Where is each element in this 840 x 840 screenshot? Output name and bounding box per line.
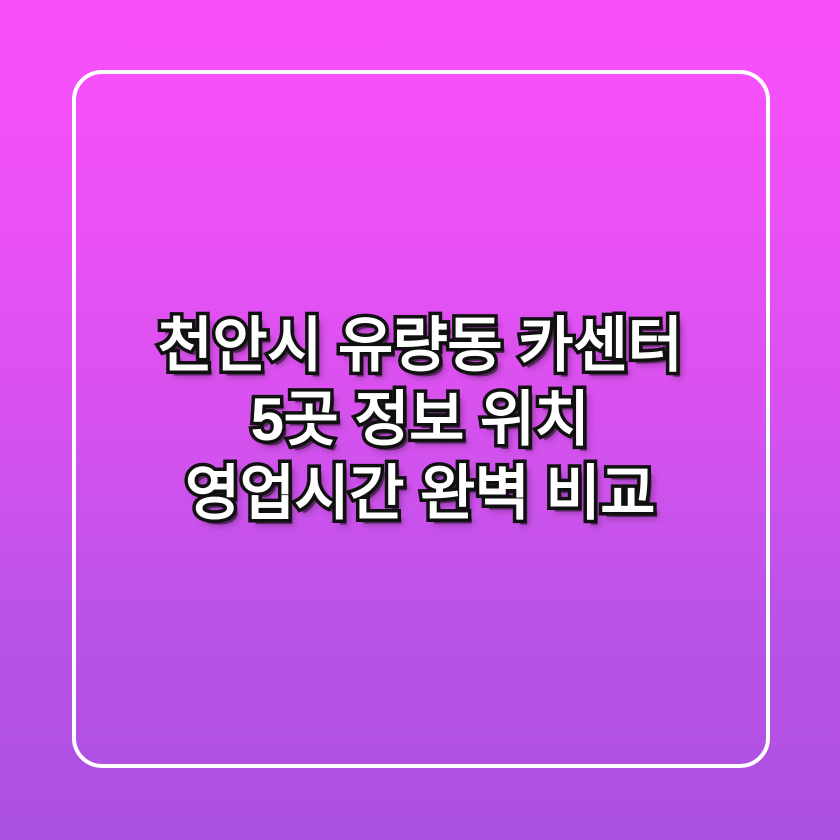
title-line-3: 영업시간 완벽 비교 [0, 457, 840, 531]
thumbnail-card: 천안시 유량동 카센터 5곳 정보 위치 영업시간 완벽 비교 [0, 0, 840, 840]
title-block: 천안시 유량동 카센터 5곳 정보 위치 영업시간 완벽 비교 [0, 0, 840, 840]
title-line-2: 5곳 정보 위치 [0, 383, 840, 457]
title-line-1: 천안시 유량동 카센터 [0, 309, 840, 383]
